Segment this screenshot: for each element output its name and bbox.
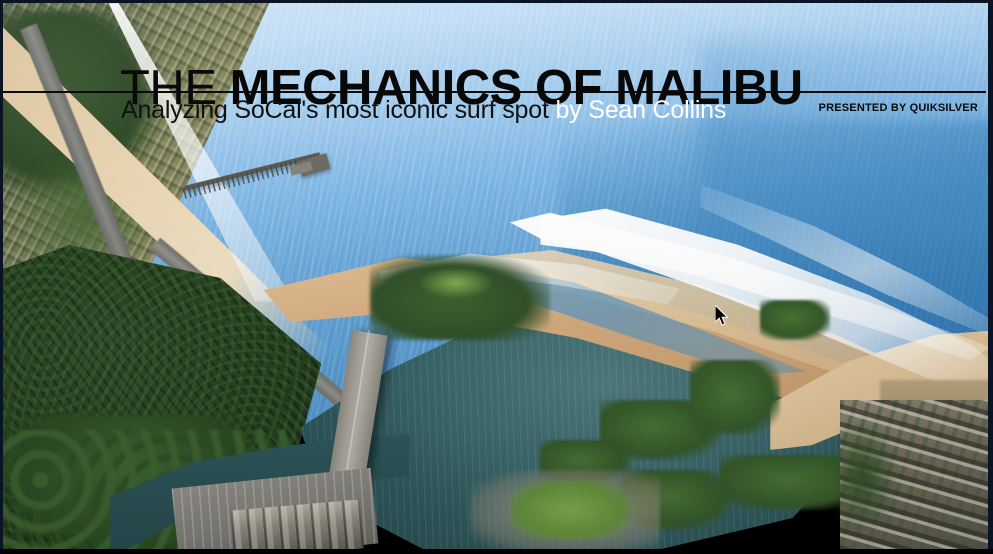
lagoon-park-lawn bbox=[510, 480, 630, 540]
marsh-island bbox=[690, 360, 780, 435]
point-lawn bbox=[420, 268, 492, 298]
page-subtitle: Analyzing SoCal's most iconic surf spot … bbox=[121, 98, 726, 123]
banner-stage: THE MECHANICS OF MALIBU Analyzing SoCal'… bbox=[0, 0, 993, 554]
residential-trees bbox=[838, 420, 898, 530]
page-subtitle-byline: by Sean Collins bbox=[555, 96, 726, 124]
marsh-island bbox=[760, 300, 830, 340]
sponsor-credit: PRESENTED BY QUIKSILVER bbox=[819, 102, 978, 114]
page-subtitle-description: Analyzing SoCal's most iconic surf spot bbox=[121, 96, 555, 124]
